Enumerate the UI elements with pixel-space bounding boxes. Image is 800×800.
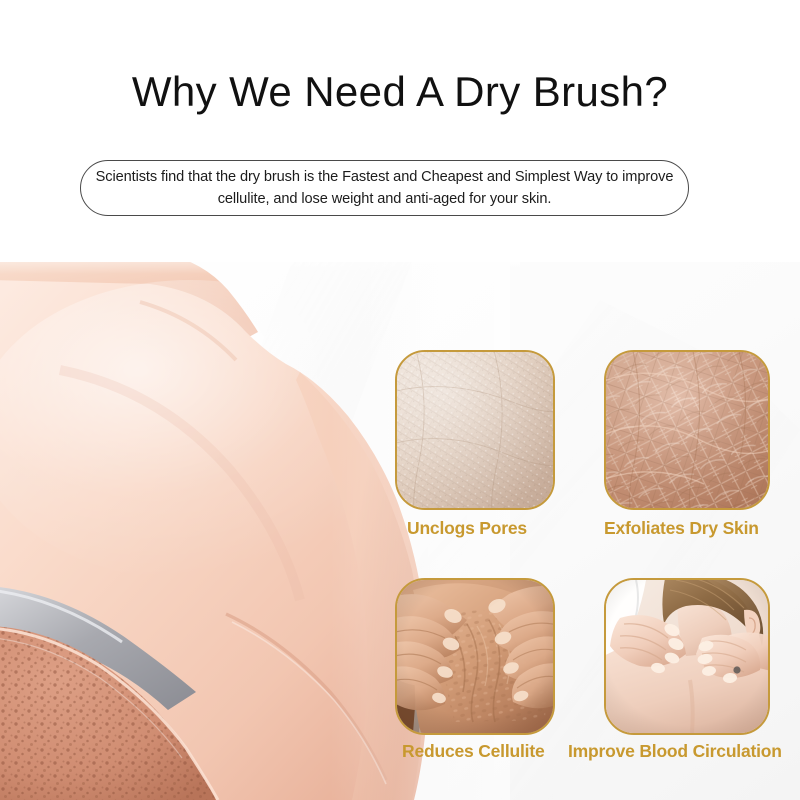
header: Why We Need A Dry Brush? Scientists find…	[0, 0, 800, 262]
card-image-frame	[395, 350, 555, 510]
neck-shoulder-massage-photo	[606, 580, 768, 733]
card-caption: Improve Blood Circulation	[568, 741, 782, 762]
card-caption: Exfoliates Dry Skin	[604, 518, 759, 539]
card-image-frame	[395, 578, 555, 735]
subtitle-callout-box: Scientists find that the dry brush is th…	[80, 160, 689, 216]
card-image-frame	[604, 350, 770, 510]
marketing-infographic: Why We Need A Dry Brush? Scientists find…	[0, 0, 800, 800]
subtitle-text: Scientists find that the dry brush is th…	[81, 166, 688, 210]
card-caption: Unclogs Pores	[407, 518, 527, 539]
page-title: Why We Need A Dry Brush?	[0, 68, 800, 116]
dry-flaky-skin-macro	[606, 352, 768, 508]
cellulite-thigh-squeeze-photo	[397, 580, 553, 733]
card-image-frame	[604, 578, 770, 735]
card-caption: Reduces Cellulite	[402, 741, 544, 762]
clogged-pores-skin-macro	[397, 352, 553, 508]
